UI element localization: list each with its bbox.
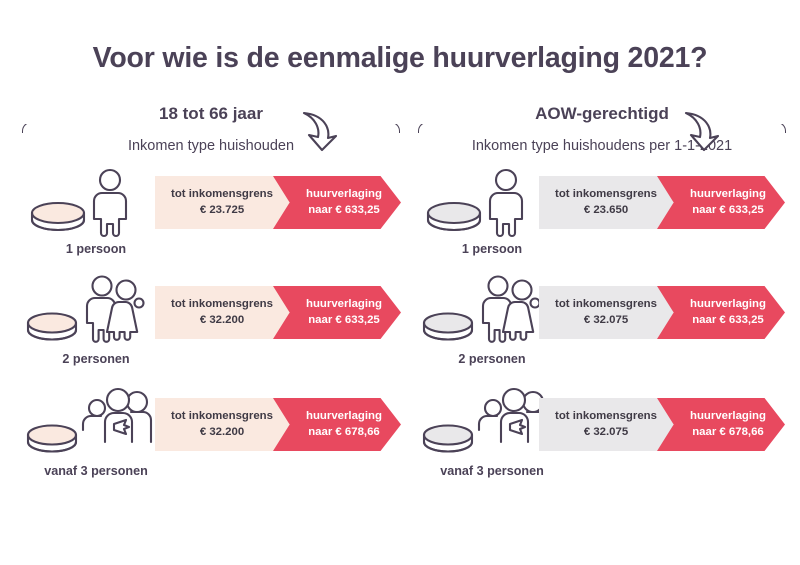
limit-label: tot inkomensgrens — [171, 187, 273, 202]
result-value: naar € 633,25 — [692, 313, 764, 328]
one-person-icon — [22, 158, 170, 240]
income-limit-segment: tot inkomensgrens € 32.200 — [155, 286, 289, 339]
infographic-page: Voor wie is de eenmalige huurverlaging 2… — [0, 0, 800, 565]
result-value: naar € 633,25 — [308, 313, 380, 328]
income-bar: tot inkomensgrens € 32.200 huurverlaging… — [155, 286, 401, 339]
household-label: 2 personen — [418, 352, 566, 366]
result-label: huurverlaging — [690, 297, 766, 312]
household-row: 2 personen tot inkomensgrens € 32.200 hu… — [22, 268, 412, 378]
curved-down-arrow-icon — [676, 108, 722, 152]
limit-value: € 23.650 — [584, 203, 628, 218]
result-value: naar € 633,25 — [308, 203, 380, 218]
result-label: huurverlaging — [690, 187, 766, 202]
income-limit-segment: tot inkomensgrens € 23.650 — [539, 176, 673, 229]
household-label: 1 persoon — [418, 242, 566, 256]
income-limit-segment: tot inkomensgrens € 23.725 — [155, 176, 289, 229]
income-bar: tot inkomensgrens € 32.200 huurverlaging… — [155, 398, 401, 451]
household-row: 2 personen tot inkomensgrens € 32.075 hu… — [418, 268, 800, 378]
result-label: huurverlaging — [306, 297, 382, 312]
income-limit-segment: tot inkomensgrens € 32.075 — [539, 398, 673, 451]
limit-value: € 23.725 — [200, 203, 244, 218]
result-value: naar € 633,25 — [692, 203, 764, 218]
result-value: naar € 678,66 — [692, 425, 764, 440]
household-icon-block: vanaf 3 personen — [22, 380, 170, 490]
income-bar: tot inkomensgrens € 23.725 huurverlaging… — [155, 176, 401, 229]
income-bar: tot inkomensgrens € 32.075 huurverlaging… — [539, 398, 787, 451]
rent-reduction-segment: huurverlaging naar € 633,25 — [657, 286, 785, 339]
household-icon-block: 2 personen — [22, 268, 170, 378]
household-row: vanaf 3 personen tot inkomensgrens € 32.… — [22, 380, 412, 490]
limit-value: € 32.075 — [584, 425, 628, 440]
limit-label: tot inkomensgrens — [171, 409, 273, 424]
household-label: vanaf 3 personen — [418, 464, 566, 478]
limit-label: tot inkomensgrens — [555, 187, 657, 202]
household-icon-block: 1 persoon — [22, 158, 170, 268]
household-label: 2 personen — [22, 352, 170, 366]
household-row: 1 persoon tot inkomensgrens € 23.650 huu… — [418, 158, 800, 268]
rent-reduction-segment: huurverlaging naar € 678,66 — [273, 398, 401, 451]
limit-value: € 32.200 — [200, 425, 244, 440]
income-limit-segment: tot inkomensgrens € 32.200 — [155, 398, 289, 451]
limit-label: tot inkomensgrens — [555, 297, 657, 312]
household-label: 1 persoon — [22, 242, 170, 256]
rent-reduction-segment: huurverlaging naar € 633,25 — [273, 176, 401, 229]
limit-label: tot inkomensgrens — [555, 409, 657, 424]
column-header-aow: AOW-gerechtigd Inkomen type huishoudens … — [418, 104, 786, 154]
column-subheading: Inkomen type huishoudens per 1-1-2021 — [418, 138, 786, 154]
household-label: vanaf 3 personen — [22, 464, 170, 478]
result-label: huurverlaging — [306, 409, 382, 424]
column-header-18-66: 18 tot 66 jaar Inkomen type huishouden — [22, 104, 400, 154]
column-subheading: Inkomen type huishouden — [22, 138, 400, 154]
rent-reduction-segment: huurverlaging naar € 678,66 — [657, 398, 785, 451]
income-bar: tot inkomensgrens € 32.075 huurverlaging… — [539, 286, 787, 339]
result-value: naar € 678,66 — [308, 425, 380, 440]
header-bracket-left: 18 tot 66 jaar — [22, 104, 400, 130]
rent-reduction-segment: huurverlaging naar € 633,25 — [657, 176, 785, 229]
two-persons-icon — [22, 268, 170, 350]
household-row: 1 persoon tot inkomensgrens € 23.725 huu… — [22, 158, 412, 268]
column-heading: 18 tot 66 jaar — [22, 104, 400, 124]
income-limit-segment: tot inkomensgrens € 32.075 — [539, 286, 673, 339]
income-bar: tot inkomensgrens € 23.650 huurverlaging… — [539, 176, 787, 229]
page-title: Voor wie is de eenmalige huurverlaging 2… — [0, 42, 800, 75]
result-label: huurverlaging — [690, 409, 766, 424]
household-row: vanaf 3 personen tot inkomensgrens € 32.… — [418, 380, 800, 490]
limit-value: € 32.200 — [200, 313, 244, 328]
curved-down-arrow-icon — [294, 108, 340, 152]
rent-reduction-segment: huurverlaging naar € 633,25 — [273, 286, 401, 339]
header-bracket-right: AOW-gerechtigd — [418, 104, 786, 130]
result-label: huurverlaging — [306, 187, 382, 202]
column-heading: AOW-gerechtigd — [418, 104, 786, 124]
limit-value: € 32.075 — [584, 313, 628, 328]
three-persons-icon — [22, 380, 170, 462]
limit-label: tot inkomensgrens — [171, 297, 273, 312]
